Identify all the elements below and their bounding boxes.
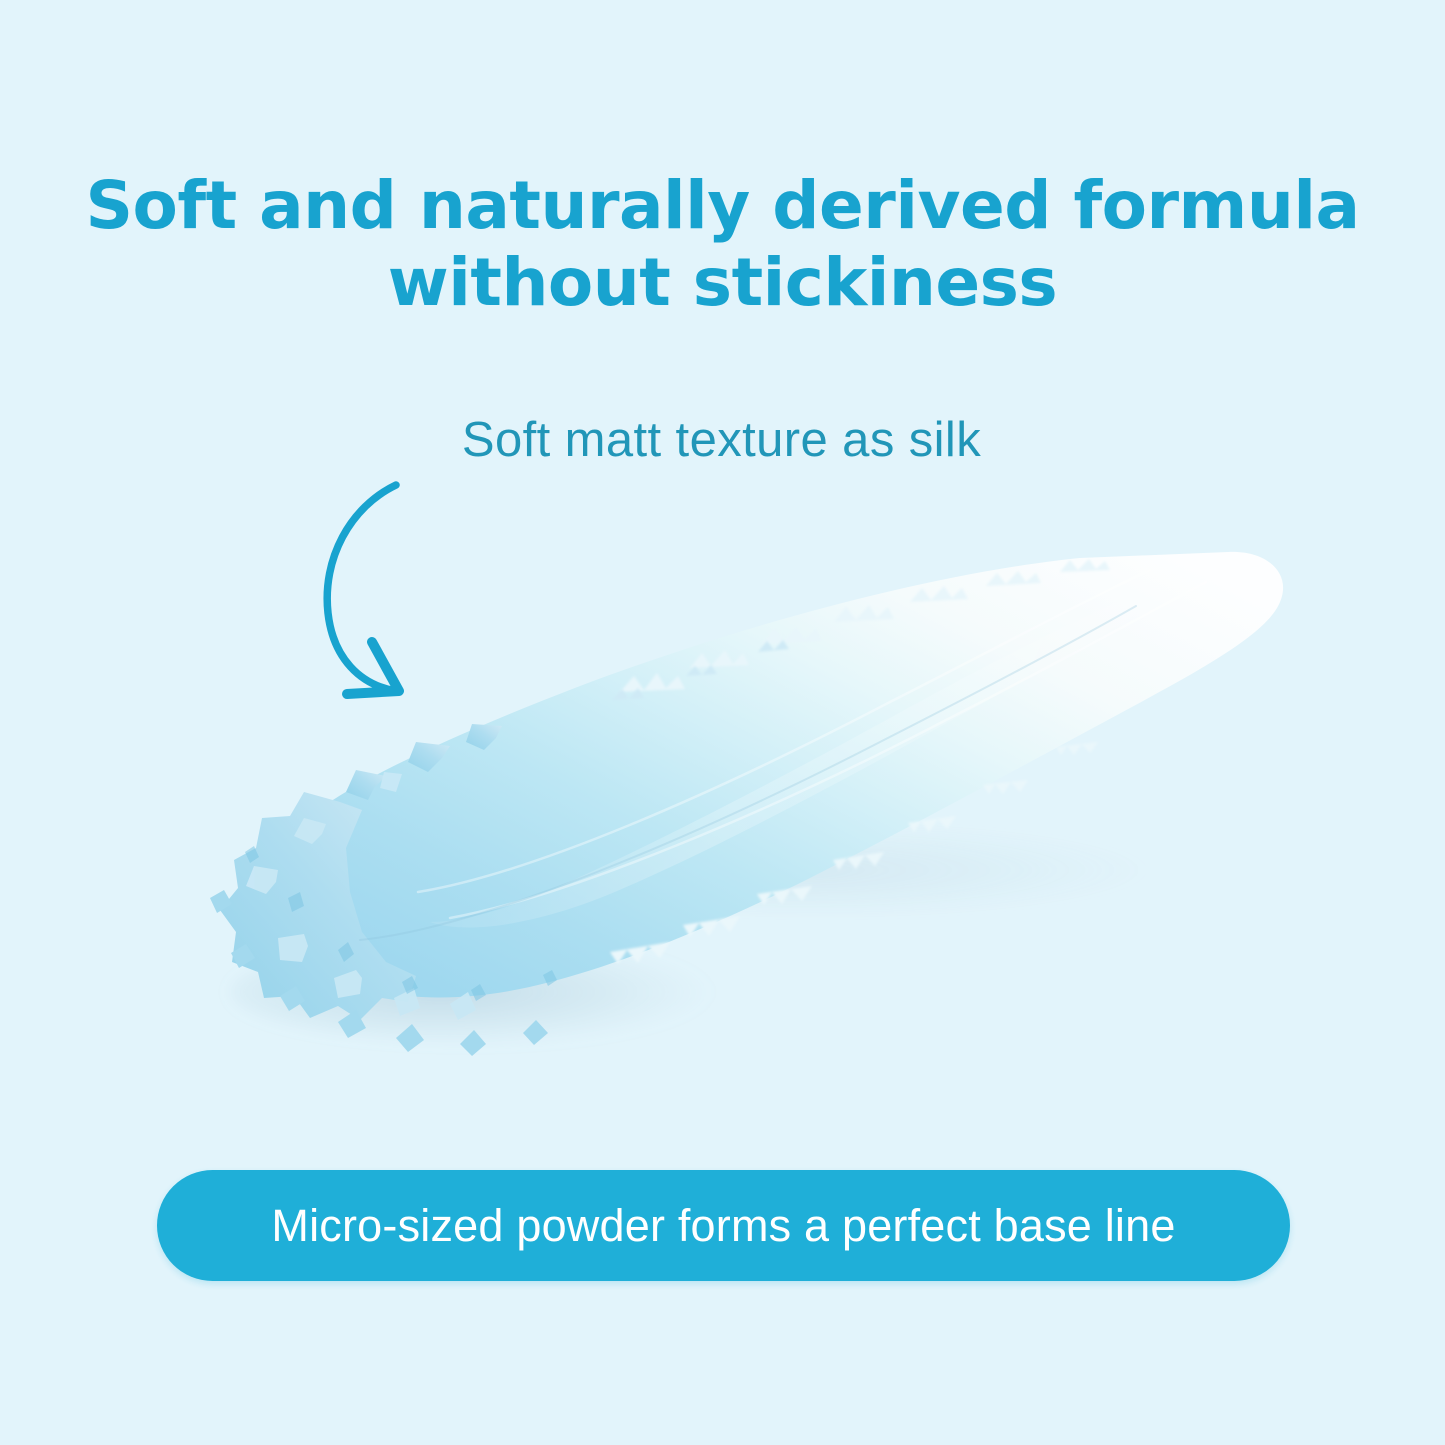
feature-banner-text: Micro-sized powder forms a perfect base … bbox=[271, 1200, 1175, 1252]
cream-smear-swatch-image bbox=[150, 540, 1310, 1070]
page-title-line-2: without stickiness bbox=[0, 245, 1445, 322]
product-feature-panel: Soft and naturally derived formula witho… bbox=[0, 0, 1445, 1445]
page-title: Soft and naturally derived formula witho… bbox=[0, 168, 1445, 321]
page-title-line-1: Soft and naturally derived formula bbox=[0, 168, 1445, 245]
callout-label: Soft matt texture as silk bbox=[0, 412, 1445, 468]
callout-label-text: Soft matt texture as silk bbox=[462, 412, 981, 468]
feature-banner[interactable]: Micro-sized powder forms a perfect base … bbox=[157, 1170, 1290, 1281]
